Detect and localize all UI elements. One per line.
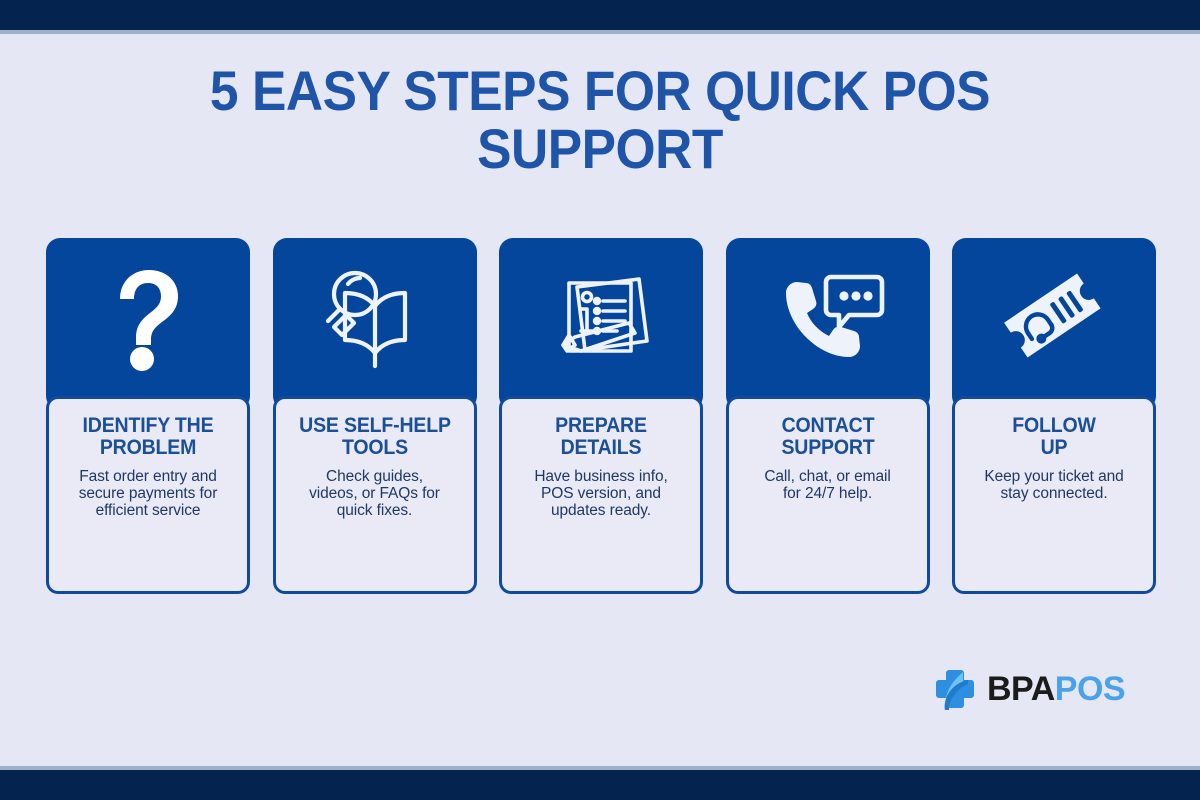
card-heading: USE SELF-HELP TOOLS [292, 415, 458, 459]
card-heading: IDENTIFY THE PROBLEM [65, 415, 231, 459]
logo-wordmark: BPAPOS [987, 672, 1125, 706]
card-icon-panel [46, 238, 250, 410]
card-heading: FOLLOW UP [971, 415, 1137, 459]
card-description: Keep your ticket and stay connected. [965, 468, 1143, 502]
phone-chat-icon [726, 238, 930, 398]
card-text-panel: IDENTIFY THE PROBLEM Fast order entry an… [46, 396, 250, 594]
brand-logo: BPAPOS [932, 666, 1125, 712]
card-text-panel: USE SELF-HELP TOOLS Check guides, videos… [273, 396, 477, 594]
magnifier-book-icon [273, 238, 477, 398]
card-icon-panel [273, 238, 477, 410]
logo-brand-text: BPA [987, 670, 1055, 708]
top-navy-bar [0, 0, 1200, 30]
step-card-follow-up: FOLLOW UP Keep your ticket and stay conn… [952, 238, 1156, 594]
question-mark-icon [46, 238, 250, 398]
top-divider-line [0, 30, 1200, 34]
card-heading: PREPARE DETAILS [518, 415, 684, 459]
bpa-cross-logo-icon [932, 666, 978, 712]
card-icon-panel [499, 238, 703, 410]
step-card-use-self-help-tools: USE SELF-HELP TOOLS Check guides, videos… [273, 238, 477, 594]
infographic-poster: 5 EASY STEPS FOR QUICK POS SUPPORT IDENT… [0, 0, 1200, 800]
steps-card-row: IDENTIFY THE PROBLEM Fast order entry an… [46, 238, 1156, 594]
support-ticket-icon [952, 238, 1156, 398]
card-description: Have business info, POS version, and upd… [512, 468, 690, 519]
documents-pen-icon [499, 238, 703, 398]
card-text-panel: FOLLOW UP Keep your ticket and stay conn… [952, 396, 1156, 594]
step-card-identify-the-problem: IDENTIFY THE PROBLEM Fast order entry an… [46, 238, 250, 594]
card-description: Check guides, videos, or FAQs for quick … [286, 468, 464, 519]
card-text-panel: PREPARE DETAILS Have business info, POS … [499, 396, 703, 594]
card-description: Fast order entry and secure payments for… [59, 468, 237, 519]
card-heading: CONTACT SUPPORT [745, 415, 911, 459]
step-card-prepare-details: PREPARE DETAILS Have business info, POS … [499, 238, 703, 594]
logo-suffix-text: POS [1055, 670, 1125, 708]
card-icon-panel [726, 238, 930, 410]
card-description: Call, chat, or email for 24/7 help. [739, 468, 917, 502]
page-title: 5 EASY STEPS FOR QUICK POS SUPPORT [103, 62, 1097, 178]
card-text-panel: CONTACT SUPPORT Call, chat, or email for… [726, 396, 930, 594]
step-card-contact-support: CONTACT SUPPORT Call, chat, or email for… [726, 238, 930, 594]
bottom-navy-bar [0, 770, 1200, 800]
card-icon-panel [952, 238, 1156, 410]
